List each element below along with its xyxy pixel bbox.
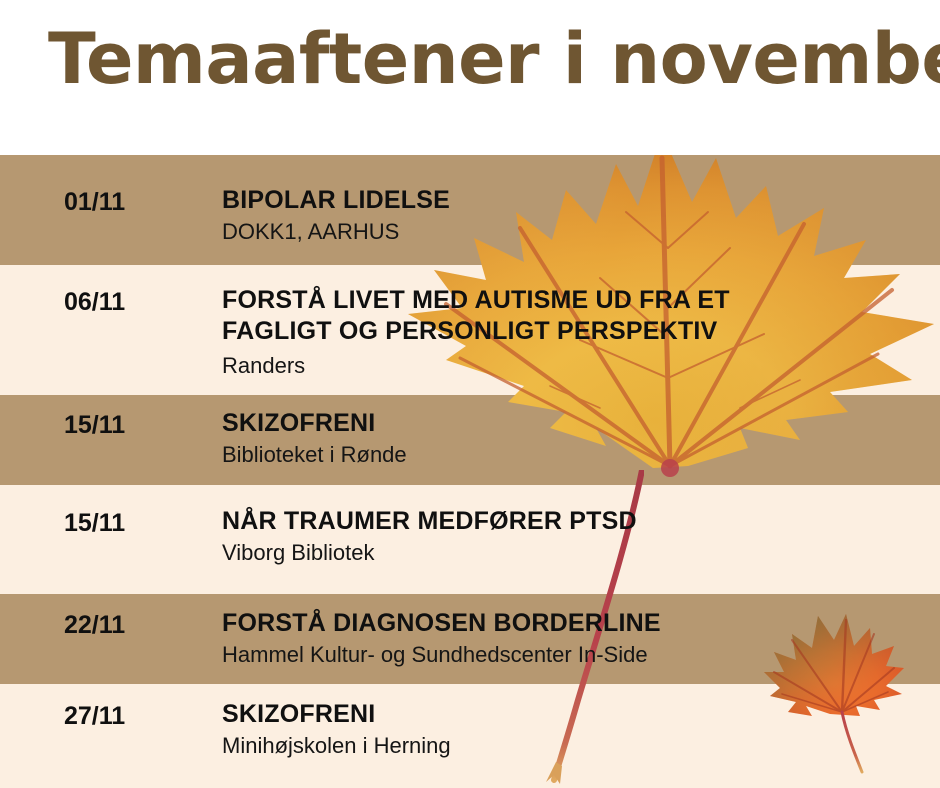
event-date: 06/11 <box>64 288 125 317</box>
list-item: 06/11 FORSTÅ LIVET MED AUTISME UD FRA ET… <box>0 265 940 395</box>
event-date: 01/11 <box>64 188 125 217</box>
event-details: FORSTÅ LIVET MED AUTISME UD FRA ET FAGLI… <box>222 285 802 380</box>
page-title: Temaaftener i november <box>48 24 940 94</box>
event-venue: Randers <box>222 352 802 380</box>
title-band: Temaaftener i november <box>0 0 940 155</box>
event-title: NÅR TRAUMER MEDFØRER PTSD <box>222 506 922 537</box>
event-title: SKIZOFRENI <box>222 408 922 439</box>
list-item: 22/11 FORSTÅ DIAGNOSEN BORDERLINE Hammel… <box>0 594 940 684</box>
list-item: 15/11 SKIZOFRENI Biblioteket i Rønde <box>0 395 940 485</box>
event-poster: Temaaftener i november 01/11 BIPOLAR LID… <box>0 0 940 788</box>
event-venue: DOKK1, AARHUS <box>222 218 922 246</box>
event-date: 15/11 <box>64 509 125 538</box>
list-item: 15/11 NÅR TRAUMER MEDFØRER PTSD Viborg B… <box>0 485 940 594</box>
event-date: 15/11 <box>64 411 125 440</box>
list-item: 01/11 BIPOLAR LIDELSE DOKK1, AARHUS <box>0 155 940 265</box>
event-date: 22/11 <box>64 611 125 640</box>
event-venue: Hammel Kultur- og Sundhedscenter In-Side <box>222 641 922 669</box>
event-details: BIPOLAR LIDELSE DOKK1, AARHUS <box>222 185 922 245</box>
event-title: SKIZOFRENI <box>222 699 922 730</box>
event-details: SKIZOFRENI Minihøjskolen i Herning <box>222 699 922 759</box>
event-venue: Viborg Bibliotek <box>222 539 922 567</box>
event-title: FORSTÅ DIAGNOSEN BORDERLINE <box>222 608 922 639</box>
event-date: 27/11 <box>64 702 125 731</box>
event-title: BIPOLAR LIDELSE <box>222 185 922 216</box>
event-venue: Biblioteket i Rønde <box>222 441 922 469</box>
event-details: FORSTÅ DIAGNOSEN BORDERLINE Hammel Kultu… <box>222 608 922 668</box>
list-item: 27/11 SKIZOFRENI Minihøjskolen i Herning <box>0 684 940 788</box>
event-details: NÅR TRAUMER MEDFØRER PTSD Viborg Bibliot… <box>222 506 922 566</box>
event-details: SKIZOFRENI Biblioteket i Rønde <box>222 408 922 468</box>
event-title: FORSTÅ LIVET MED AUTISME UD FRA ET FAGLI… <box>222 285 802 346</box>
event-venue: Minihøjskolen i Herning <box>222 732 922 760</box>
